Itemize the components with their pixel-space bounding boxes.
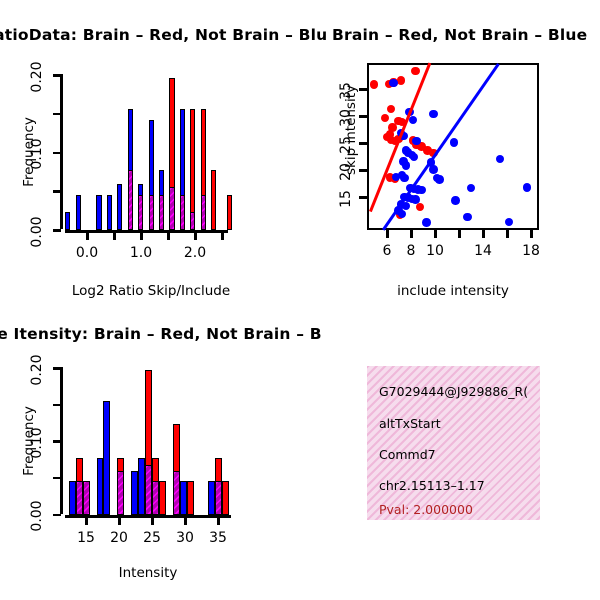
ratio-y-ticklabel: 0.00: [29, 214, 45, 250]
info-line-gene: Commd7: [379, 447, 436, 462]
intensity-y-ticklabel: 0.00: [29, 498, 45, 534]
histogram-bar-overlap: [180, 195, 185, 230]
histogram-bar-red: [227, 195, 232, 230]
scatter-x-ticklabel: 18: [511, 243, 551, 259]
ratio-y-tick: [53, 190, 61, 193]
ratio-x-axis-label: Log2 Ratio Skip/Include: [66, 283, 236, 299]
histogram-bar-overlap: [83, 481, 90, 515]
scatter-y-tick: [359, 88, 367, 91]
histogram-bar-blue: [97, 458, 104, 515]
ratio-x-tick: [140, 232, 143, 240]
histogram-bar-red: [211, 170, 216, 230]
ratio-x-tick: [221, 232, 224, 240]
intensity-x-tick: [85, 517, 88, 525]
scatter-x-ticklabel: 10: [415, 243, 455, 259]
histogram-bar-blue: [65, 212, 70, 230]
scatter-point-blue: [505, 218, 513, 226]
event-info-box: G7029444@J929886_R( altTxStart Commd7 ch…: [367, 366, 540, 520]
histogram-bar-red: [187, 481, 194, 515]
intensity-x-axis-label: Intensity: [68, 565, 228, 581]
panel-intensity-title: ne Itensity: Brain – Red, Not Brain – B: [0, 325, 322, 343]
intensity-x-tick: [184, 517, 187, 525]
scatter-point-blue: [523, 183, 531, 191]
histogram-bar-blue: [138, 458, 145, 515]
histogram-bar-blue: [103, 401, 110, 515]
histogram-bar-overlap: [145, 465, 152, 515]
ratio-x-axis: [65, 230, 228, 233]
intensity-y-tick: [53, 514, 61, 517]
scatter-x-axis-label: include intensity: [368, 283, 538, 299]
intensity-y-tick: [53, 440, 61, 443]
histogram-bar-overlap: [76, 481, 83, 515]
scatter-y-tick: [359, 115, 367, 118]
info-line-pval: Pval: 2.000000: [379, 502, 473, 517]
ratio-y-tick: [53, 113, 61, 116]
info-line-event-type: altTxStart: [379, 416, 441, 431]
scatter-point-blue: [400, 174, 408, 182]
scatter-y-ticklabel: 15: [338, 184, 354, 214]
scatter-point-blue: [450, 138, 458, 146]
histogram-bar-overlap: [201, 195, 206, 230]
histogram-bar-blue: [208, 481, 215, 515]
ratio-y-axis-label: Frequency: [21, 102, 37, 202]
scatter-y-tick: [359, 169, 367, 172]
scatter-point-blue: [402, 161, 410, 169]
scatter-point-red: [397, 76, 405, 84]
panel-ratio-histogram: RatioData: Brain – Red, Not Brain – Blu …: [0, 0, 300, 300]
intensity-x-tick: [118, 517, 121, 525]
ratio-x-tick: [86, 232, 89, 240]
ratio-y-tick: [53, 74, 61, 77]
panel-scatter-title: Brain – Red, Not Brain – Blue: [332, 26, 587, 44]
scatter-point-red: [411, 67, 419, 75]
scatter-y-axis-label: skip intensity: [343, 80, 359, 180]
intensity-y-axis-label: Frequency: [21, 391, 37, 491]
histogram-bar-blue: [117, 184, 122, 230]
histogram-bar-overlap: [215, 481, 222, 515]
scatter-point-blue: [435, 175, 443, 183]
panel-intensity-scatter: Brain – Red, Not Brain – Blue 35 30 25 2…: [300, 0, 600, 300]
panel-intensity-histogram: ne Itensity: Brain – Red, Not Brain – B …: [0, 300, 300, 600]
intensity-x-axis: [65, 515, 231, 518]
scatter-x-tick: [506, 230, 509, 238]
info-line-locus: chr2.15113–1.17: [379, 478, 485, 493]
scatter-point-blue: [411, 195, 419, 203]
ratio-x-tick: [167, 232, 170, 240]
scatter-x-tick: [434, 230, 437, 238]
histogram-bar-overlap: [169, 187, 174, 230]
histogram-bar-overlap: [149, 195, 154, 230]
ratio-x-ticklabel: 2.0: [175, 245, 215, 261]
histogram-bar-overlap: [152, 481, 159, 515]
histogram-bar-overlap: [190, 212, 195, 230]
scatter-x-ticklabel: 14: [463, 243, 503, 259]
ratio-x-tick: [194, 232, 197, 240]
scatter-x-tick: [530, 230, 533, 238]
scatter-point-blue: [451, 196, 459, 204]
histogram-bar-blue: [76, 195, 81, 230]
intensity-x-ticklabel: 35: [198, 530, 238, 546]
histogram-bar-blue: [107, 195, 112, 230]
scatter-x-tick: [386, 230, 389, 238]
histogram-bar-overlap: [117, 471, 124, 515]
ratio-y-ticklabel: 0.20: [29, 59, 45, 95]
scatter-x-tick: [482, 230, 485, 238]
histogram-bar-blue: [69, 481, 76, 515]
histogram-bar-overlap: [159, 195, 164, 230]
histogram-bar-red: [222, 481, 229, 515]
scatter-y-tick: [359, 142, 367, 145]
histogram-bar-overlap: [128, 170, 133, 230]
scatter-point-blue: [429, 110, 437, 118]
scatter-y-tick: [359, 196, 367, 199]
intensity-y-tick: [53, 404, 61, 407]
intensity-y-tick: [53, 477, 61, 480]
histogram-bar-overlap: [138, 195, 143, 230]
ratio-x-tick: [113, 232, 116, 240]
panel-ratio-title: RatioData: Brain – Red, Not Brain – Blu: [0, 26, 327, 44]
histogram-bar-red: [159, 481, 166, 515]
intensity-y-ticklabel: 0.20: [29, 352, 45, 388]
ratio-y-tick: [53, 229, 61, 232]
histogram-bar-blue: [96, 195, 101, 230]
scatter-x-tick: [410, 230, 413, 238]
histogram-bar-overlap: [173, 471, 180, 515]
ratio-y-tick: [53, 152, 61, 155]
ratio-x-ticklabel: 0.0: [67, 245, 107, 261]
scatter-point-blue: [412, 137, 420, 145]
info-line-event-id: G7029444@J929886_R(: [379, 384, 528, 399]
ratio-x-ticklabel: 1.0: [121, 245, 161, 261]
histogram-bar-blue: [180, 481, 187, 515]
scatter-point-blue: [422, 218, 430, 226]
scatter-x-tick: [458, 230, 461, 238]
intensity-x-tick: [217, 517, 220, 525]
histogram-bar-blue: [131, 471, 138, 515]
intensity-x-tick: [151, 517, 154, 525]
scatter-point-blue: [463, 213, 471, 221]
intensity-y-tick: [53, 367, 61, 370]
scatter-point-blue: [429, 165, 437, 173]
